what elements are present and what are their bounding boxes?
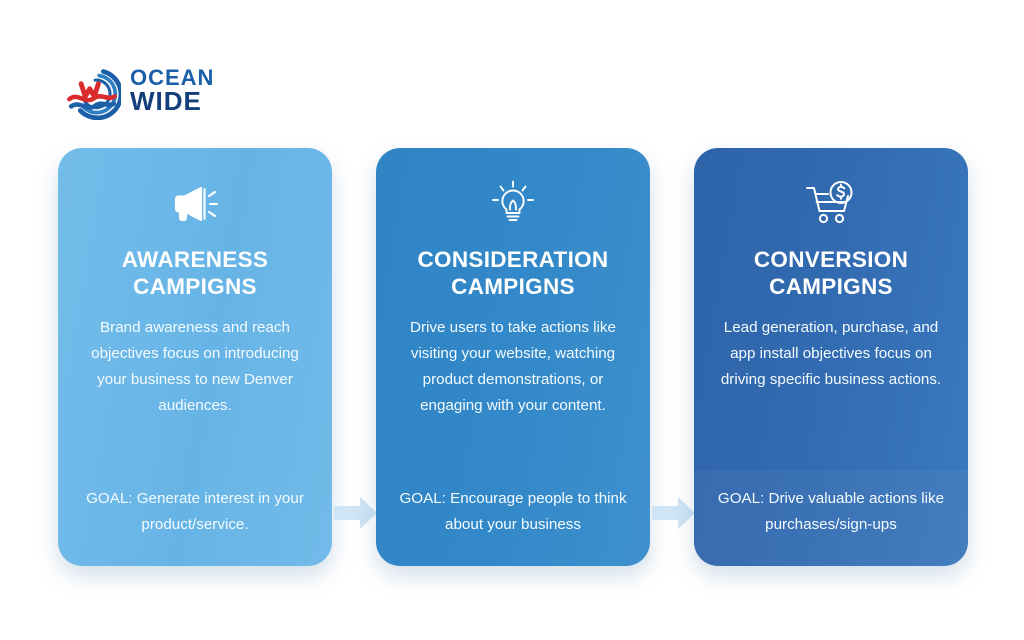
- card-title-line1: AWARENESS: [122, 247, 268, 272]
- card-awareness[interactable]: AWARENESS CAMPIGNS Brand awareness and r…: [58, 148, 332, 566]
- lightbulb-icon: [489, 178, 537, 230]
- ocean-wide-logo-icon: [63, 62, 121, 120]
- funnel-cards-row: AWARENESS CAMPIGNS Brand awareness and r…: [0, 148, 1024, 568]
- card-goal-conversion: GOAL: Drive valuable actions like purcha…: [716, 486, 946, 538]
- megaphone-icon: [170, 178, 220, 230]
- shopping-cart-dollar-icon: [803, 178, 859, 230]
- card-title-conversion: CONVERSION CAMPIGNS: [754, 246, 908, 301]
- card-goal-awareness: GOAL: Generate interest in your product/…: [80, 486, 310, 538]
- card-title-awareness: AWARENESS CAMPIGNS: [122, 246, 268, 301]
- campaign-funnel-infographic: OCEAN WIDE AWARENESS CAMPIGNS: [0, 0, 1024, 640]
- arrow-right-icon-2: [652, 495, 696, 531]
- brand-logo: OCEAN WIDE: [63, 62, 214, 120]
- brand-wordmark: OCEAN WIDE: [130, 68, 214, 114]
- card-title-line1: CONSIDERATION: [418, 247, 609, 272]
- card-title-line2: CAMPIGNS: [769, 274, 893, 299]
- brand-name-line2: WIDE: [130, 89, 214, 114]
- card-title-consideration: CONSIDERATION CAMPIGNS: [418, 246, 609, 301]
- card-body-conversion: Lead generation, purchase, and app insta…: [716, 315, 946, 393]
- card-goal-consideration: GOAL: Encourage people to think about yo…: [398, 486, 628, 538]
- arrow-right-icon-1: [334, 495, 378, 531]
- card-title-line1: CONVERSION: [754, 247, 908, 272]
- card-body-awareness: Brand awareness and reach objectives foc…: [80, 315, 310, 420]
- card-title-line2: CAMPIGNS: [451, 274, 575, 299]
- card-title-line2: CAMPIGNS: [133, 274, 257, 299]
- card-body-consideration: Drive users to take actions like visitin…: [398, 315, 628, 420]
- card-conversion[interactable]: CONVERSION CAMPIGNS Lead generation, pur…: [694, 148, 968, 566]
- card-consideration[interactable]: CONSIDERATION CAMPIGNS Drive users to ta…: [376, 148, 650, 566]
